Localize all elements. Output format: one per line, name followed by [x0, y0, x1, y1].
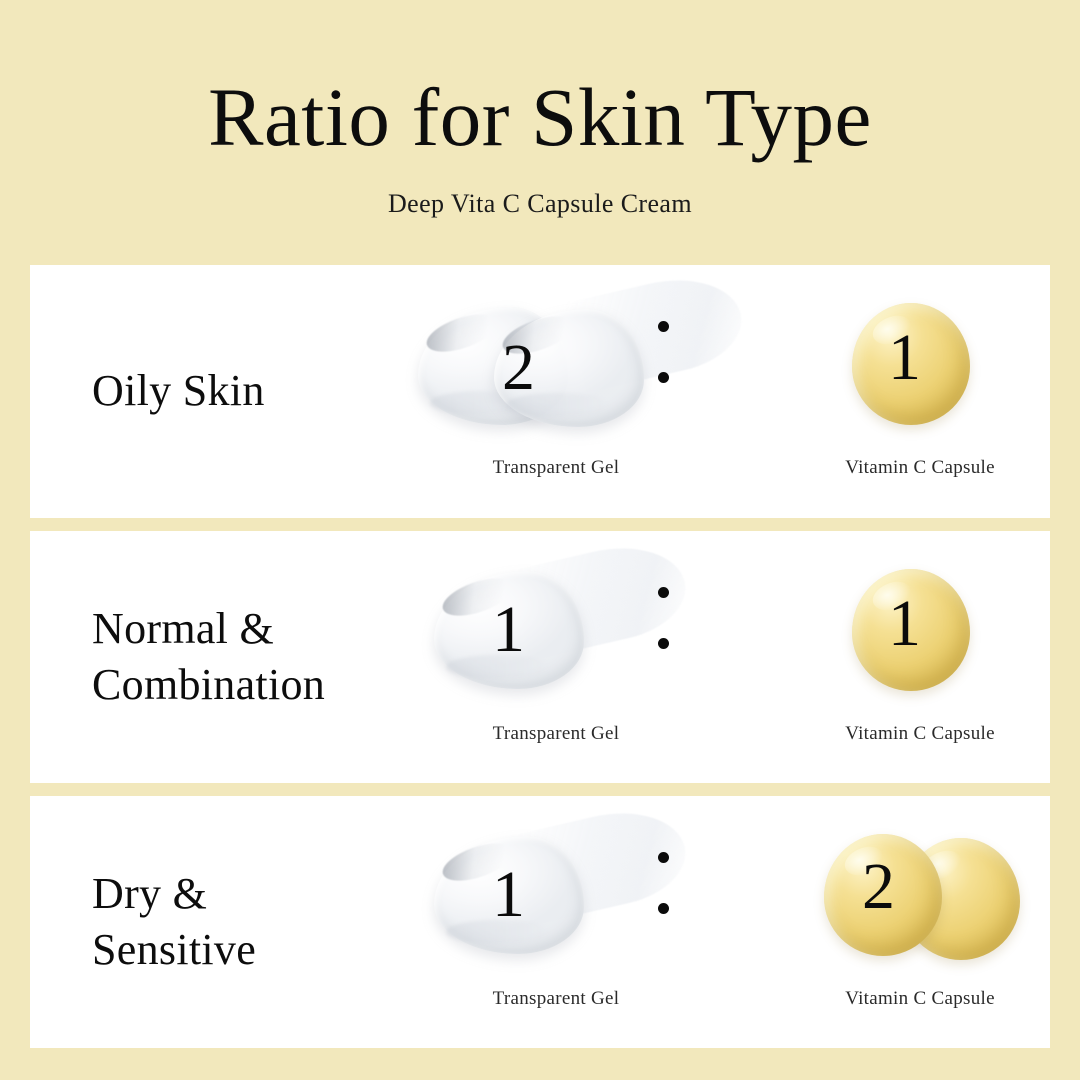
page-subtitle: Deep Vita C Capsule Cream	[0, 189, 1080, 219]
skin-type-label-line1: Dry &	[92, 866, 388, 922]
ratio-area: 2 Transparent Gel 1 Vitamin C Capsule	[388, 265, 1050, 518]
colon-dot-lower-icon	[658, 372, 669, 383]
skin-type-label-line2: Sensitive	[92, 922, 388, 978]
ratio-row-dry-sensitive: Dry & Sensitive 1 Transparent Gel	[30, 796, 1050, 1048]
ratio-row-normal-combination: Normal & Combination 1 Transparent Gel	[30, 531, 1050, 783]
capsule-visual: 2	[790, 822, 1050, 972]
colon-dot-upper-icon	[658, 321, 669, 332]
ingredient-vitamin-c-capsule: 1 Vitamin C Capsule	[790, 531, 1050, 745]
ratio-area: 1 Transparent Gel 2 Vitamin C Capsule	[388, 796, 1050, 1048]
page-title: Ratio for Skin Type	[0, 76, 1080, 159]
gel-amount: 1	[492, 597, 525, 663]
colon-dot-upper-icon	[658, 852, 669, 863]
header: Ratio for Skin Type Deep Vita C Capsule …	[0, 0, 1080, 219]
capsule-amount: 2	[862, 854, 895, 920]
colon-dot-upper-icon	[658, 587, 669, 598]
ratio-separator	[656, 587, 670, 649]
skin-type-label: Normal & Combination	[30, 601, 388, 714]
skin-type-label-line1: Normal &	[92, 601, 388, 657]
colon-dot-lower-icon	[658, 638, 669, 649]
ratio-separator	[656, 852, 670, 914]
skin-type-label: Oily Skin	[30, 363, 388, 419]
skin-type-label-line1: Oily Skin	[92, 363, 388, 419]
ratio-area: 1 Transparent Gel 1 Vitamin C Capsule	[388, 531, 1050, 783]
capsule-visual: 1	[790, 291, 1050, 441]
capsule-caption: Vitamin C Capsule	[845, 457, 995, 479]
capsule-amount: 1	[888, 325, 921, 391]
colon-dot-lower-icon	[658, 903, 669, 914]
capsule-caption: Vitamin C Capsule	[845, 723, 995, 745]
ingredient-vitamin-c-capsule: 1 Vitamin C Capsule	[790, 265, 1050, 479]
ingredient-vitamin-c-capsule: 2 Vitamin C Capsule	[790, 796, 1050, 1010]
gel-caption: Transparent Gel	[493, 988, 620, 1010]
ratio-separator	[656, 321, 670, 383]
capsule-caption: Vitamin C Capsule	[845, 988, 995, 1010]
gel-caption: Transparent Gel	[493, 457, 620, 479]
skin-type-label-line2: Combination	[92, 657, 388, 713]
gel-amount: 2	[502, 335, 535, 401]
gel-caption: Transparent Gel	[493, 723, 620, 745]
skin-type-label: Dry & Sensitive	[30, 866, 388, 979]
ratio-rows: Oily Skin 2 Transparent Gel	[30, 265, 1050, 1048]
ratio-row-oily-skin: Oily Skin 2 Transparent Gel	[30, 265, 1050, 518]
capsule-visual: 1	[790, 557, 1050, 707]
capsule-amount: 1	[888, 591, 921, 657]
capsule-group-icon	[790, 822, 1050, 972]
gel-amount: 1	[492, 862, 525, 928]
